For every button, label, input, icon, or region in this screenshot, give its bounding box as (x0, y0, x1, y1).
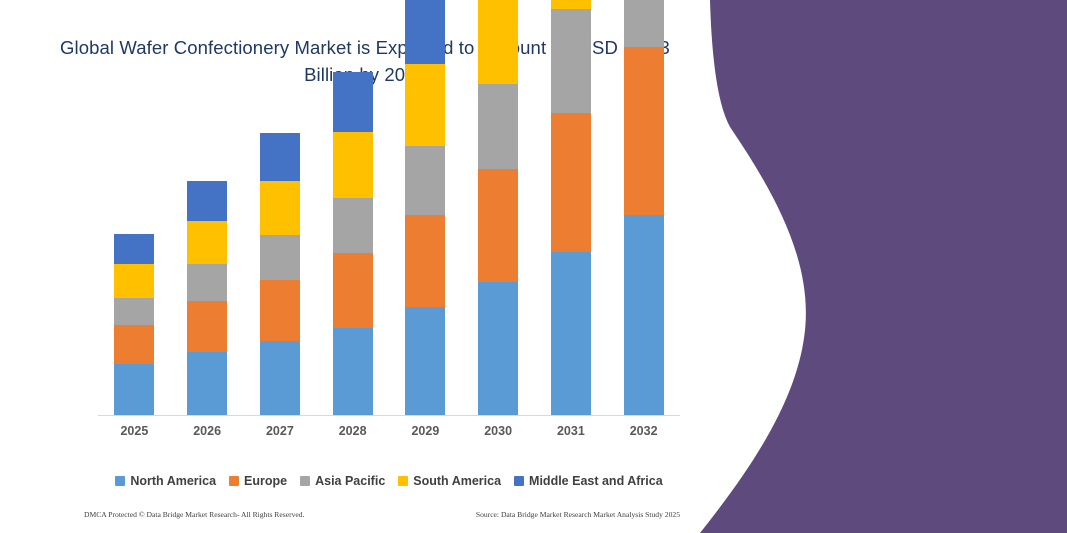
bar-segment (260, 235, 300, 280)
bar-segment (187, 352, 227, 415)
stacked-bar (187, 181, 227, 415)
legend-item[interactable]: South America (398, 474, 501, 488)
stacked-bar (114, 234, 154, 415)
bar-column (171, 110, 243, 415)
x-axis-label: 2029 (389, 424, 461, 446)
bar-segment (260, 280, 300, 341)
chart-x-axis (98, 415, 680, 416)
bar-column (462, 110, 534, 415)
x-axis-label: 2031 (535, 424, 607, 446)
bar-segment (260, 133, 300, 181)
bar-column (244, 110, 316, 415)
branding-panel: Global Wafer Confectionery Market, By Re… (680, 0, 1067, 533)
legend-label: Asia Pacific (315, 474, 385, 488)
bar-segment (114, 234, 154, 264)
bar-segment (405, 307, 445, 415)
legend-color-swatch (514, 476, 524, 486)
bar-segment (333, 198, 373, 253)
bar-segment (260, 341, 300, 415)
bar-segment (114, 264, 154, 297)
legend-item[interactable]: Middle East and Africa (514, 474, 663, 488)
stacked-bar (478, 0, 518, 415)
legend-label: South America (413, 474, 501, 488)
legend-color-swatch (398, 476, 408, 486)
bar-segment (187, 264, 227, 301)
x-axis-tick-labels: 20252026202720282029203020312032 (98, 424, 680, 446)
stacked-bar (333, 72, 373, 415)
stacked-bar (624, 0, 664, 415)
bar-segment (478, 169, 518, 282)
bar-column (608, 110, 680, 415)
legend-color-swatch (300, 476, 310, 486)
legend-item[interactable]: North America (115, 474, 216, 488)
bar-segment (551, 0, 591, 9)
bar-segment (405, 0, 445, 64)
bar-segment (551, 9, 591, 114)
bar-segment (333, 253, 373, 328)
legend-label: North America (130, 474, 216, 488)
footer: DMCA Protected © Data Bridge Market Rese… (84, 506, 680, 522)
bar-segment (333, 72, 373, 132)
stacked-bar-chart (98, 110, 680, 415)
legend-item[interactable]: Asia Pacific (300, 474, 385, 488)
legend-item[interactable]: Europe (229, 474, 287, 488)
infographic-root: Global Wafer Confectionery Market is Exp… (0, 0, 1067, 533)
bar-segment (478, 282, 518, 416)
stacked-bar (405, 0, 445, 415)
x-axis-label: 2026 (171, 424, 243, 446)
chart-legend: North AmericaEuropeAsia PacificSouth Ame… (98, 471, 680, 491)
x-axis-label: 2025 (98, 424, 170, 446)
bar-segment (114, 298, 154, 326)
x-axis-label: 2030 (462, 424, 534, 446)
bar-segment (478, 84, 518, 169)
bar-segment (405, 215, 445, 307)
bar-segment (551, 113, 591, 251)
bar-segment (187, 221, 227, 265)
footer-copyright: DMCA Protected © Data Bridge Market Rese… (84, 510, 304, 519)
bar-column (389, 110, 461, 415)
purple-background-shape (680, 0, 1067, 533)
bar-segment (551, 252, 591, 415)
bar-segment (405, 64, 445, 146)
footer-source: Source: Data Bridge Market Research Mark… (476, 510, 680, 519)
bar-segment (333, 132, 373, 198)
legend-label: Middle East and Africa (529, 474, 663, 488)
stacked-bar (551, 0, 591, 415)
bar-segment (333, 328, 373, 415)
bar-segment (260, 181, 300, 235)
x-axis-label: 2028 (317, 424, 389, 446)
bar-segment (405, 146, 445, 215)
x-axis-label: 2027 (244, 424, 316, 446)
bar-segment (114, 325, 154, 364)
bar-segment (187, 301, 227, 352)
bar-column (317, 110, 389, 415)
bar-segment (114, 364, 154, 415)
bar-column (535, 110, 607, 415)
bar-segment (624, 47, 664, 215)
bar-segment (187, 181, 227, 220)
x-axis-label: 2032 (608, 424, 680, 446)
bar-segment (624, 0, 664, 47)
legend-color-swatch (229, 476, 239, 486)
stacked-bar (260, 133, 300, 415)
bar-column (98, 110, 170, 415)
bar-segment (624, 215, 664, 415)
legend-label: Europe (244, 474, 287, 488)
bar-segment (478, 0, 518, 84)
legend-color-swatch (115, 476, 125, 486)
chart-panel: Global Wafer Confectionery Market is Exp… (0, 0, 720, 533)
